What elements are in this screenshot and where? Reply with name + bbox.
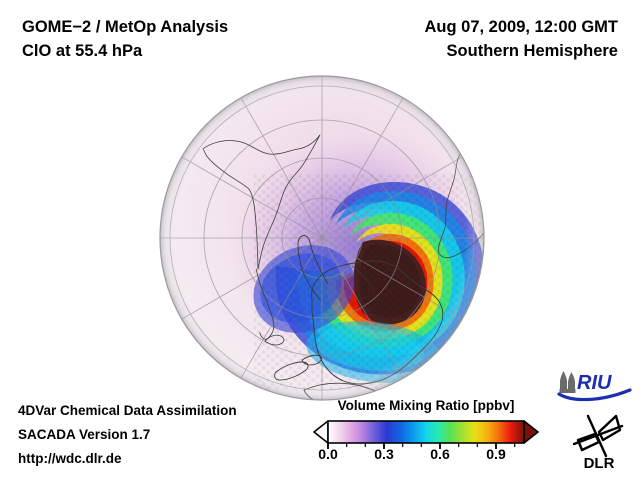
- colorbar-underflow-arrow: [314, 421, 328, 443]
- colorbar: Volume Mixing Ratio [ppbv] 0.00.30.60.9: [312, 398, 540, 472]
- colorbar-tick-label: 0.6: [430, 446, 449, 462]
- colorbar-tick-label: 0.3: [374, 446, 393, 462]
- timestamp-label: Aug 07, 2009, 12:00 GMT: [425, 18, 619, 37]
- cathedral-icon: [560, 371, 576, 393]
- page-title: GOME−2 / MetOp Analysis: [22, 18, 228, 37]
- colorbar-gradient: [328, 421, 524, 443]
- hemisphere-label: Southern Hemisphere: [447, 42, 618, 61]
- colorbar-overflow-arrow: [524, 421, 538, 443]
- colorbar-title: Volume Mixing Ratio [ppbv]: [312, 398, 540, 413]
- orthographic-projection-svg: [158, 74, 486, 402]
- globe-map: [158, 74, 486, 402]
- footer-method-label: 4DVar Chemical Data Assimilation: [18, 403, 237, 418]
- footer-url-link[interactable]: http://wdc.dlr.de: [18, 451, 122, 466]
- colorbar-tick-label: 0.0: [318, 446, 337, 462]
- riu-wordmark: RIU: [577, 372, 612, 394]
- figure-canvas: GOME−2 / MetOp Analysis ClO at 55.4 hPa …: [0, 0, 640, 480]
- dlr-wordmark: DLR: [584, 455, 615, 472]
- species-level-label: ClO at 55.4 hPa: [22, 42, 142, 61]
- riu-logo-svg: RIU: [556, 369, 634, 403]
- footer-version-label: SACADA Version 1.7: [18, 427, 150, 442]
- dlr-mark-icon: [574, 416, 622, 456]
- colorbar-tick-label: 0.9: [486, 446, 505, 462]
- dlr-logo: DLR: [566, 410, 632, 472]
- colorbar-scale: [312, 420, 540, 450]
- limb-shading: [160, 76, 484, 400]
- dlr-logo-svg: DLR: [566, 410, 632, 472]
- riu-logo: RIU: [556, 369, 634, 403]
